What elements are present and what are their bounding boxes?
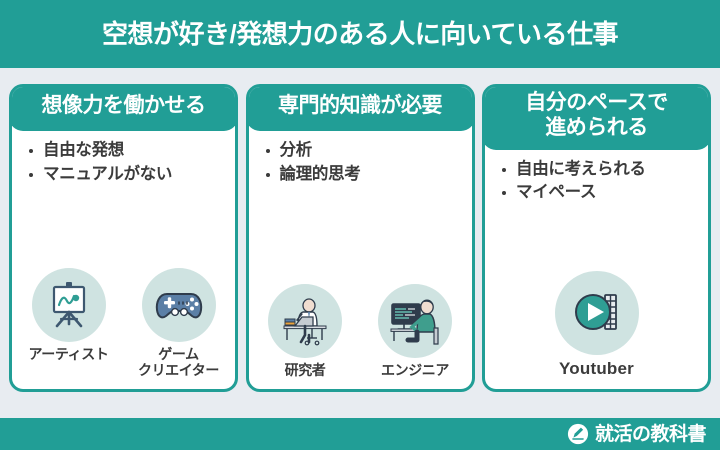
list-item: マニュアルがない <box>28 163 235 187</box>
card-body: 自由に考えられる マイペース Youtuber <box>485 150 708 389</box>
game-controller-icon-svg <box>153 279 205 331</box>
card-title: 想像力を働かせる <box>9 84 238 131</box>
footer-brand: 就活の教科書 <box>595 425 706 444</box>
job-engineer: エンジニア <box>363 284 467 379</box>
card-own-pace: 自分のペースで 進められる 自由に考えられる マイペース <box>482 84 711 392</box>
page-title: 空想が好き/発想力のある人に向いている仕事 <box>102 21 618 47</box>
play-film-icon <box>555 271 639 355</box>
play-film-icon-svg <box>567 283 627 343</box>
bullet-list: 自由に考えられる マイペース <box>485 158 708 206</box>
card-body: 分析 論理的思考 <box>249 131 472 389</box>
job-game-creator: ゲーム クリエイター <box>127 268 231 379</box>
list-item: 分析 <box>265 139 472 163</box>
researcher-icon-svg <box>276 292 334 350</box>
easel-icon-svg <box>43 279 95 331</box>
job-label: Youtuber <box>559 359 634 379</box>
pencil-circle-icon <box>567 423 589 445</box>
bullet-list: 自由な発想 マニュアルがない <box>12 139 235 187</box>
card-title: 専門的知識が必要 <box>246 84 475 131</box>
job-label: ゲーム クリエイター <box>138 346 219 379</box>
job-youtuber: Youtuber <box>545 271 649 379</box>
card-title: 自分のペースで 進められる <box>482 84 711 150</box>
easel-icon <box>32 268 106 342</box>
job-list: Youtuber <box>485 271 708 383</box>
card-body: 自由な発想 マニュアルがない <box>12 131 235 389</box>
game-controller-icon <box>142 268 216 342</box>
engineer-icon <box>378 284 452 358</box>
job-list: 研究者 <box>249 284 472 383</box>
job-label-line2: クリエイター <box>138 362 219 378</box>
job-label: 研究者 <box>285 362 326 379</box>
job-artist: アーティスト <box>17 268 121 363</box>
list-item: 論理的思考 <box>265 163 472 187</box>
card-expertise: 専門的知識が必要 分析 論理的思考 <box>246 84 475 392</box>
job-list: アーティスト <box>12 268 235 383</box>
card-imagination: 想像力を働かせる 自由な発想 マニュアルがない <box>9 84 238 392</box>
card-title-line1: 自分のペースで <box>525 91 667 114</box>
list-item: マイペース <box>501 181 708 205</box>
researcher-icon <box>268 284 342 358</box>
job-researcher: 研究者 <box>253 284 357 379</box>
job-label: エンジニア <box>381 362 449 379</box>
list-item: 自由な発想 <box>28 139 235 163</box>
footer-bar: 就活の教科書 <box>0 418 720 450</box>
card-title-line2: 進められる <box>545 116 648 139</box>
engineer-icon-svg <box>386 292 444 350</box>
cards-row: 想像力を働かせる 自由な発想 マニュアルがない <box>0 84 720 392</box>
header-bar: 空想が好き/発想力のある人に向いている仕事 <box>0 0 720 68</box>
bullet-list: 分析 論理的思考 <box>249 139 472 187</box>
list-item: 自由に考えられる <box>501 158 708 182</box>
job-label-line1: ゲーム <box>158 346 198 362</box>
job-label: アーティスト <box>29 346 109 363</box>
